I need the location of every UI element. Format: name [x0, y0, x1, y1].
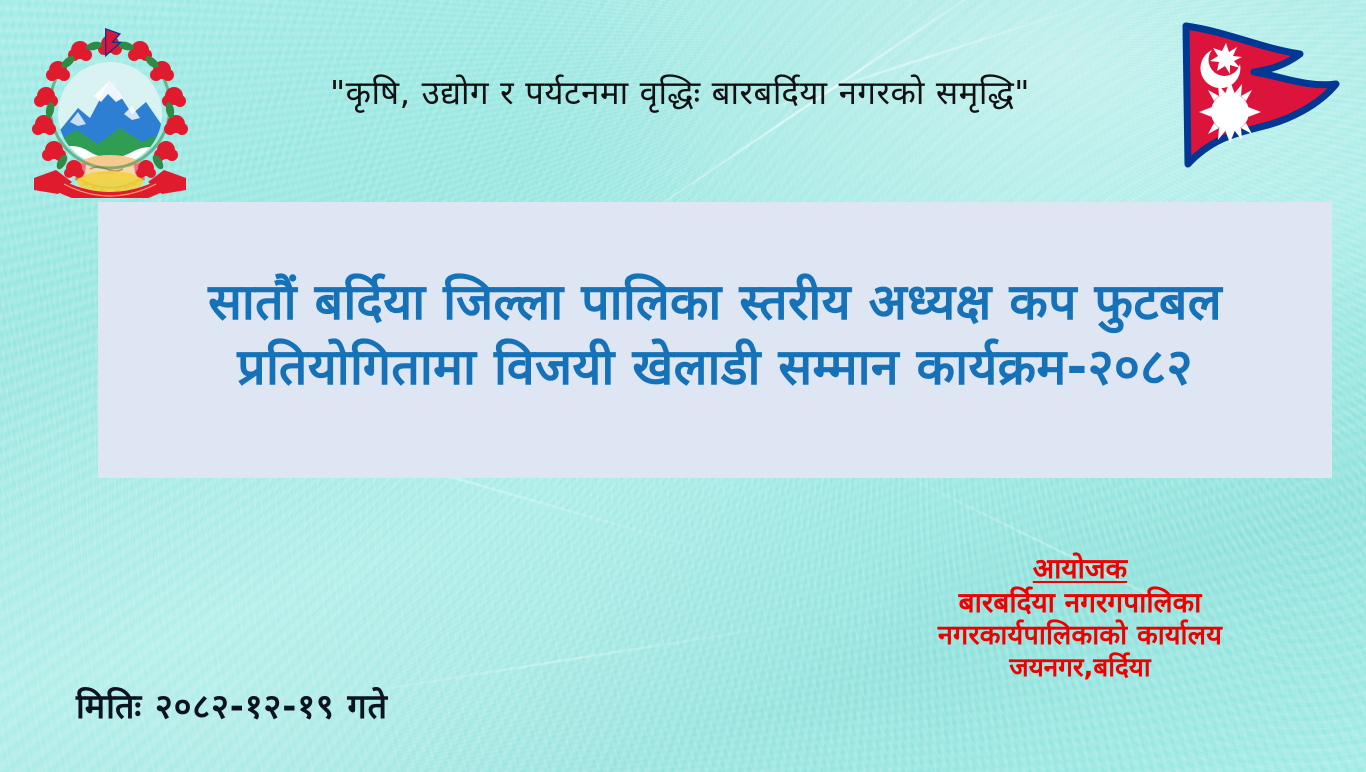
nepal-flag-icon [1168, 14, 1354, 186]
municipality-slogan: "कृषि, उद्योग र पर्यटनमा वृद्धिः बारबर्द… [200, 74, 1160, 112]
event-title-line-1: सातौं बर्दिया जिल्ला पालिका स्तरीय अध्यक… [98, 270, 1332, 335]
event-banner: "कृषि, उद्योग र पर्यटनमा वृद्धिः बारबर्द… [0, 0, 1366, 772]
nepal-emblem-icon [28, 22, 192, 198]
event-title: सातौं बर्दिया जिल्ला पालिका स्तरीय अध्यक… [98, 270, 1332, 400]
organizer-label: आयोजक [1033, 552, 1127, 586]
event-date: मितिः २०८२-१२-१९ गते [76, 682, 388, 728]
organizer-office: नगरकार्यपालिकाको कार्यालय [850, 620, 1310, 653]
organizer-label-line: आयोजक [850, 552, 1310, 586]
organizer-block: आयोजक बारबर्दिया नगरगपालिका नगरकार्यपालि… [850, 552, 1310, 685]
organizer-place: जयनगर,बर्दिया [850, 653, 1310, 685]
organizer-municipality: बारबर्दिया नगरगपालिका [850, 586, 1310, 620]
event-title-line-2: प्रतियोगितामा विजयी खेलाडी सम्मान कार्यक… [98, 335, 1332, 400]
